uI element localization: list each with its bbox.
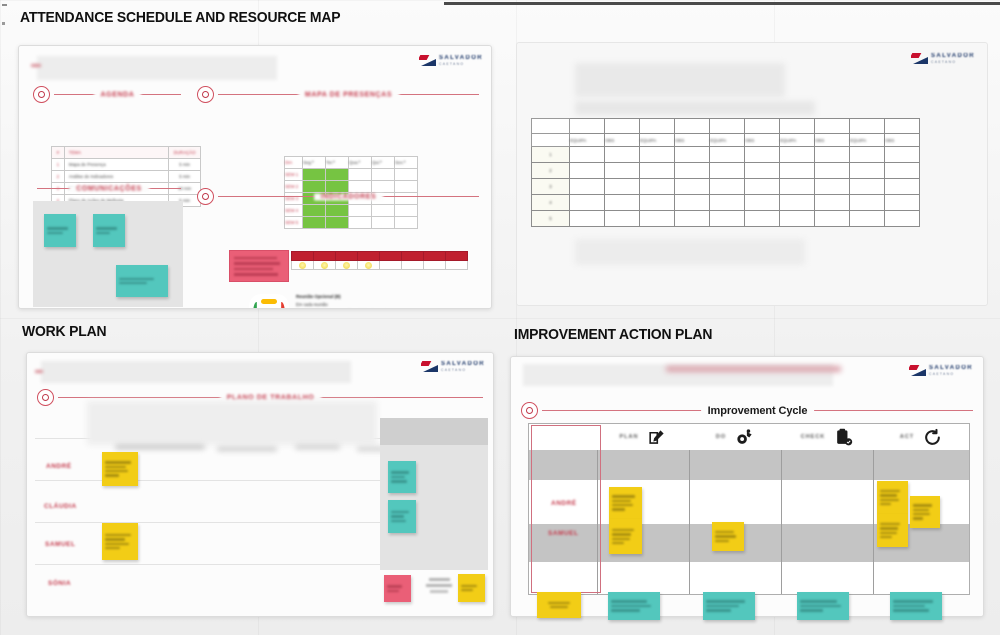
brand-logo: SALVADOR CAETANO [419,55,483,66]
team-cell[interactable] [710,147,745,163]
team-cell[interactable] [850,179,885,195]
agenda-table[interactable]: # TEMA DURAÇÃO 1 Mapa de Presença 5 min … [51,146,201,207]
smiley-icon [365,262,372,269]
left-edge-tick [2,4,7,6]
agenda-col-num: # [52,147,64,158]
improvement-person-label: ANDRÉ [551,500,577,507]
improvement-name-column[interactable] [531,425,601,593]
improvement-cycle-label: Improvement Cycle [701,405,815,417]
team-cell[interactable] [675,179,710,195]
indicators-head-cell [358,252,380,261]
team-cell[interactable] [815,179,850,195]
team-cell[interactable] [780,195,815,211]
team-cell[interactable] [815,163,850,179]
agenda-row-num: 2 [52,171,64,182]
workplan-header-label: PLANO DE TRABALHO [220,394,322,401]
panel-ghost-footer [575,239,805,265]
indicators-head-cell [446,252,468,261]
panel-ghost-header [575,63,785,97]
indicators-cell[interactable] [402,261,424,270]
presence-cell-filled[interactable] [303,169,326,181]
team-cell[interactable] [885,211,920,227]
team-row-number: 5 [532,213,569,224]
team-cell[interactable] [745,163,780,179]
panel-header-ghost-text [41,361,351,383]
workplan-person-label: SÓNIA [48,580,71,587]
team-cell[interactable] [640,195,675,211]
team-cell[interactable] [885,195,920,211]
team-cell[interactable] [710,179,745,195]
team-cell[interactable] [745,179,780,195]
agenda-row-duration: 5 min [169,171,200,182]
sticky-note[interactable] [890,592,942,620]
sticky-note[interactable] [102,452,138,486]
team-cell[interactable] [815,195,850,211]
workplan-badge-icon [37,389,54,406]
workplan-ghost-line [217,447,277,451]
workplan-person-label: CLÁUDIA [44,503,77,510]
table-row[interactable]: 5 [532,211,920,227]
agenda-row-task: Análise de Indicadores [69,171,168,182]
smiley-icon [321,262,328,269]
workplan-footer-caption [424,578,454,593]
team-cell[interactable] [570,195,605,211]
presence-cell-filled[interactable] [326,205,349,217]
brand-logo-mark [421,361,438,372]
gear-run-icon [735,428,754,447]
team-head-blank [745,119,780,134]
table-row[interactable]: 4 [532,195,920,211]
presence-cell[interactable] [372,217,395,229]
team-head-blank [640,119,675,134]
cycle-arrow-icon [923,428,942,447]
workplan-person-label: ANDRÉ [46,463,72,470]
ic-column-label: ACT [900,434,914,440]
team-cell[interactable] [605,211,640,227]
team-cell[interactable] [850,147,885,163]
team-cell[interactable] [640,211,675,227]
team-cell[interactable] [780,163,815,179]
sticky-note[interactable] [797,592,849,620]
agenda-header-label: AGENDA [94,91,142,98]
presence-col-day: DIA [285,157,302,168]
presence-cell[interactable] [349,217,372,229]
team-cell[interactable] [640,163,675,179]
team-cell[interactable] [570,147,605,163]
indicators-cell-marked[interactable] [314,261,336,270]
sticky-note[interactable] [608,592,660,620]
sticky-note[interactable] [116,265,168,297]
team-cell[interactable] [570,179,605,195]
presence-cell[interactable] [349,205,372,217]
indicators-head-cell [336,252,358,261]
ic-column-act[interactable]: ACT [873,424,969,450]
ic-column-label: DO [716,434,726,440]
top-divider-rule [444,2,1000,5]
team-subhead-corner [532,134,570,147]
sticky-note[interactable] [609,487,642,519]
brand-name: SALVADOR [441,361,485,367]
brand-logo-wordmark: SALVADOR CAETANO [439,55,483,66]
smiley-icon [299,262,306,269]
indicators-head-cell [380,252,402,261]
agenda-col-task: TEMA [69,147,168,158]
ic-column-label: PLAN [620,434,639,440]
brand-name: SALVADOR [929,365,973,371]
team-cell[interactable] [675,163,710,179]
team-head-blank [605,119,640,134]
team-table[interactable]: EQUIPA OBS EQUIPA OBS EQUIPA OBS EQUIPA … [531,118,920,227]
indicators-head-cell [314,252,336,261]
team-cell[interactable] [815,211,850,227]
sticky-note[interactable] [388,500,416,533]
panel-header-red-mark [35,370,43,373]
table-row[interactable]: 1 [532,147,920,163]
team-cell[interactable] [780,211,815,227]
team-subheader-row: EQUIPA OBS EQUIPA OBS EQUIPA OBS EQUIPA … [532,134,920,147]
sticky-note[interactable] [44,214,76,247]
agenda-row-duration: 5 min [169,159,200,170]
team-head-blank [815,119,850,134]
sticky-note[interactable] [609,519,642,554]
brand-logo: SALVADOR CAETANO [911,53,975,64]
team-cell[interactable] [640,147,675,163]
presence-cell[interactable] [349,169,372,181]
clipboard-check-icon [834,428,853,447]
team-cell[interactable] [850,163,885,179]
team-col-obs: OBS [605,135,639,146]
presence-cell-filled[interactable] [326,217,349,229]
indicators-header: INDICADORES [197,188,479,205]
presence-cell[interactable] [372,205,395,217]
team-cell[interactable] [850,195,885,211]
ic-column-label: CHECK [801,434,826,440]
sticky-note[interactable] [877,514,908,547]
team-cell[interactable] [710,163,745,179]
team-col-obs: OBS [675,135,709,146]
presence-row-label: SEM 5 [285,217,302,228]
indicators-cell-marked[interactable] [292,261,314,270]
sticky-note[interactable] [712,522,744,551]
table-row[interactable]: SEM 5 [285,217,418,229]
presence-map-header: MAPA DE PRESENÇAS [197,86,479,103]
agenda-badge-icon [33,86,50,103]
indicators-head-cell [424,252,446,261]
brand-name: SALVADOR [931,53,975,59]
presence-header-row: DIA Seg.ª Ter.ª Qua.ª Qui.ª Sex.ª [285,157,418,169]
presence-col-wed: Qua.ª [349,157,371,168]
agenda-header-row: # TEMA DURAÇÃO [52,147,201,159]
workplan-side-board-header [380,418,488,445]
sticky-note[interactable] [384,575,411,602]
agenda-col-duration: DURAÇÃO [169,147,200,158]
team-col-equipa: EQUIPA [850,135,884,146]
presence-cell-filled[interactable] [303,217,326,229]
table-row[interactable]: SEM 1 [285,169,418,181]
agenda-row-num: 1 [52,159,64,170]
brand-logo-wordmark: SALVADOR CAETANO [929,365,973,376]
indicators-cell[interactable] [424,261,446,270]
indicators-cell[interactable] [380,261,402,270]
team-cell[interactable] [885,179,920,195]
team-head-blank [675,119,710,134]
team-cell[interactable] [605,195,640,211]
indicators-cell[interactable] [446,261,468,270]
next-step-arrow-icon [252,297,286,309]
sticky-note[interactable] [93,214,125,247]
indicators-cell-marked[interactable] [358,261,380,270]
presence-cell[interactable] [395,205,418,217]
panel-ghost-subheader [575,101,815,115]
indicators-header-row [292,252,468,261]
indicators-head-cell [402,252,424,261]
table-row[interactable]: 3 [532,179,920,195]
indicators-callout-note[interactable] [229,250,289,282]
table-row[interactable]: SEM 4 [285,205,418,217]
team-cell[interactable] [780,179,815,195]
workplan-section-title: WORK PLAN [22,323,106,340]
team-cell[interactable] [745,147,780,163]
improvement-cycle-header: Improvement Cycle [521,402,973,419]
team-col-obs: OBS [745,135,779,146]
presence-cell-filled[interactable] [303,205,326,217]
presence-cell[interactable] [395,217,418,229]
team-cell[interactable] [675,195,710,211]
team-row-number: 4 [532,197,569,208]
presence-cell[interactable] [372,169,395,181]
brand-logo-mark [419,55,436,66]
presence-col-fri: Sex.ª [395,157,417,168]
workplan-ghost-line [295,445,340,449]
team-cell[interactable] [885,163,920,179]
team-cell[interactable] [780,147,815,163]
sticky-note[interactable] [102,523,138,560]
team-cell[interactable] [605,179,640,195]
team-title-row [532,119,920,134]
team-cell[interactable] [815,147,850,163]
team-cell[interactable] [745,211,780,227]
ic-column-plan[interactable]: PLAN [597,424,689,450]
presence-row-label: SEM 1 [285,169,302,180]
info-line: Em cada reunião [296,301,486,308]
sticky-note[interactable] [910,496,940,528]
ic-column-do[interactable]: DO [689,424,781,450]
team-cell[interactable] [570,163,605,179]
brand-logo-mark [911,53,928,64]
workplan-ghost-cards [87,401,377,445]
ic-column-check[interactable]: CHECK [781,424,873,450]
team-cell[interactable] [675,211,710,227]
agenda-header: AGENDA [33,86,181,103]
table-row[interactable] [292,261,468,270]
panel-header-ghost-text [37,56,277,80]
presence-col-thu: Qui.ª [372,157,394,168]
team-cell[interactable] [640,179,675,195]
attendance-section-title: ATTENDANCE SCHEDULE AND RESOURCE MAP [20,9,340,26]
team-col-obs: OBS [815,135,849,146]
presence-cell[interactable] [395,169,418,181]
presence-col-tue: Ter.ª [326,157,348,168]
attendance-panel[interactable]: SALVADOR CAETANO AGENDA MAPA DE PRESENÇA… [18,45,492,309]
presence-cell-filled[interactable] [326,169,349,181]
brand-logo-wordmark: SALVADOR CAETANO [441,361,485,372]
team-col-equipa: EQUIPA [710,135,744,146]
team-table-corner [532,119,570,134]
indicators-badge-icon [197,188,214,205]
brand-sub: CAETANO [439,63,483,66]
team-row-number: 3 [532,181,569,192]
team-head-blank [885,119,920,134]
presence-row-label: SEM 4 [285,205,302,216]
panel-header-red-mark [31,64,41,67]
pencil-edit-icon [647,428,666,447]
panel-header-red-title-ghost [666,366,841,372]
brand-logo: SALVADOR CAETANO [421,361,485,372]
table-row[interactable]: 1 Mapa de Presença 5 min [52,159,201,171]
info-line: Reunião Opcional (B) [296,293,486,301]
team-cell[interactable] [675,147,710,163]
presence-map-badge-icon [197,86,214,103]
team-head-blank [710,119,745,134]
team-col-obs: OBS [885,135,919,146]
communications-header-label: COMUNICAÇÕES [69,185,149,192]
sticky-note[interactable] [877,481,908,514]
brand-sub: CAETANO [441,369,485,372]
team-cell[interactable] [605,147,640,163]
sticky-note[interactable] [537,592,581,618]
team-col-equipa: EQUIPA [570,135,604,146]
team-col-equipa: EQUIPA [780,135,814,146]
sticky-note[interactable] [703,592,755,620]
agenda-row-task: Mapa de Presença [69,159,168,170]
team-cell[interactable] [885,147,920,163]
presence-col-mon: Seg.ª [303,157,325,168]
brand-sub: CAETANO [931,61,975,64]
communications-header: COMUNICAÇÕES [33,188,181,189]
improvement-person-label: SAMUEL [548,530,578,537]
smiley-icon [343,262,350,269]
sticky-note[interactable] [388,461,416,493]
indicators-head-cell [292,252,314,261]
team-cell[interactable] [605,163,640,179]
indicators-info-block: Reunião Opcional (B) Em cada reunião Rev… [296,293,486,309]
brand-sub: CAETANO [929,373,973,376]
team-cell[interactable] [570,211,605,227]
brand-logo: SALVADOR CAETANO [909,365,973,376]
sticky-note[interactable] [458,574,485,602]
team-head-blank [850,119,885,134]
team-row-number: 2 [532,165,569,176]
brand-name: SALVADOR [439,55,483,61]
team-head-blank [780,119,815,134]
info-line: Rever PDCA pendente - verificar DEFINIR … [296,308,486,309]
team-cell[interactable] [710,211,745,227]
team-cell[interactable] [850,211,885,227]
communications-board[interactable] [33,201,183,307]
team-col-equipa: EQUIPA [640,135,674,146]
brand-logo-mark [909,365,926,376]
team-head-blank [570,119,605,134]
workplan-ghost-line [115,445,205,449]
table-row[interactable]: 2 [532,163,920,179]
team-cell[interactable] [745,195,780,211]
brand-logo-wordmark: SALVADOR CAETANO [931,53,975,64]
left-edge-tick-secondary [2,22,5,25]
presence-map-header-label: MAPA DE PRESENÇAS [298,91,399,98]
improvement-badge-icon [521,402,538,419]
team-cell[interactable] [710,195,745,211]
table-row[interactable]: 2 Análise de Indicadores 5 min [52,171,201,183]
indicators-cell-marked[interactable] [336,261,358,270]
improvement-section-title: IMPROVEMENT ACTION PLAN [514,326,712,343]
indicators-header-label: INDICADORES [314,193,384,200]
workplan-person-label: SAMUEL [45,541,75,548]
team-row-number: 1 [532,149,569,160]
indicators-table[interactable] [291,251,468,270]
